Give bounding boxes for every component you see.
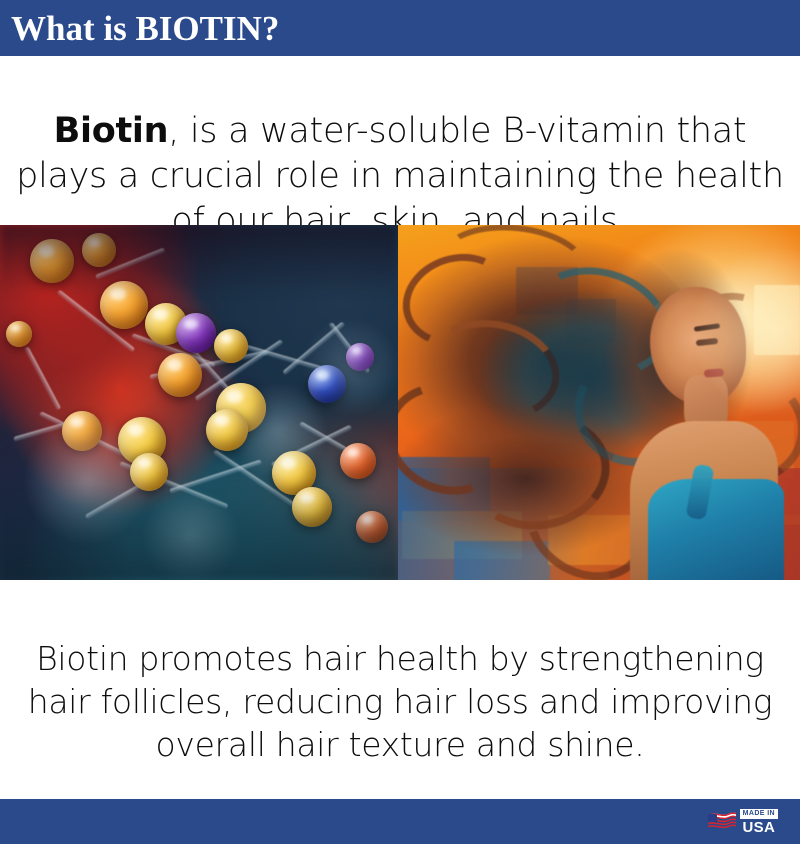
intro-text-block: Biotin, is a water-soluble B-vitamin tha… xyxy=(0,56,800,225)
header-band: What is BIOTIN? xyxy=(0,0,800,56)
page-title: What is BIOTIN? xyxy=(0,11,279,46)
made-in-usa-text: MADE IN USA xyxy=(740,809,778,835)
intro-paragraph: Biotin, is a water-soluble B-vitamin tha… xyxy=(14,109,786,244)
made-in-label: MADE IN xyxy=(740,809,778,819)
us-flag-icon xyxy=(707,811,737,833)
molecule-bottom-shade xyxy=(0,490,398,580)
footer-band: MADE IN USA xyxy=(0,799,800,844)
art-sun-glow xyxy=(398,225,800,580)
molecule-illustration xyxy=(0,225,398,580)
outro-paragraph: Biotin promotes hair health by strengthe… xyxy=(18,637,782,766)
usa-label: USA xyxy=(740,819,778,835)
molecule-top-shade xyxy=(0,225,398,297)
outro-text-block: Biotin promotes hair health by strengthe… xyxy=(0,580,800,799)
image-strip xyxy=(0,225,800,580)
intro-lead-word: Biotin xyxy=(54,111,169,151)
biotin-infographic: What is BIOTIN? Biotin, is a water-solub… xyxy=(0,0,800,800)
woman-flowing-hair-illustration xyxy=(398,225,800,580)
made-in-usa-badge: MADE IN USA xyxy=(707,809,778,835)
